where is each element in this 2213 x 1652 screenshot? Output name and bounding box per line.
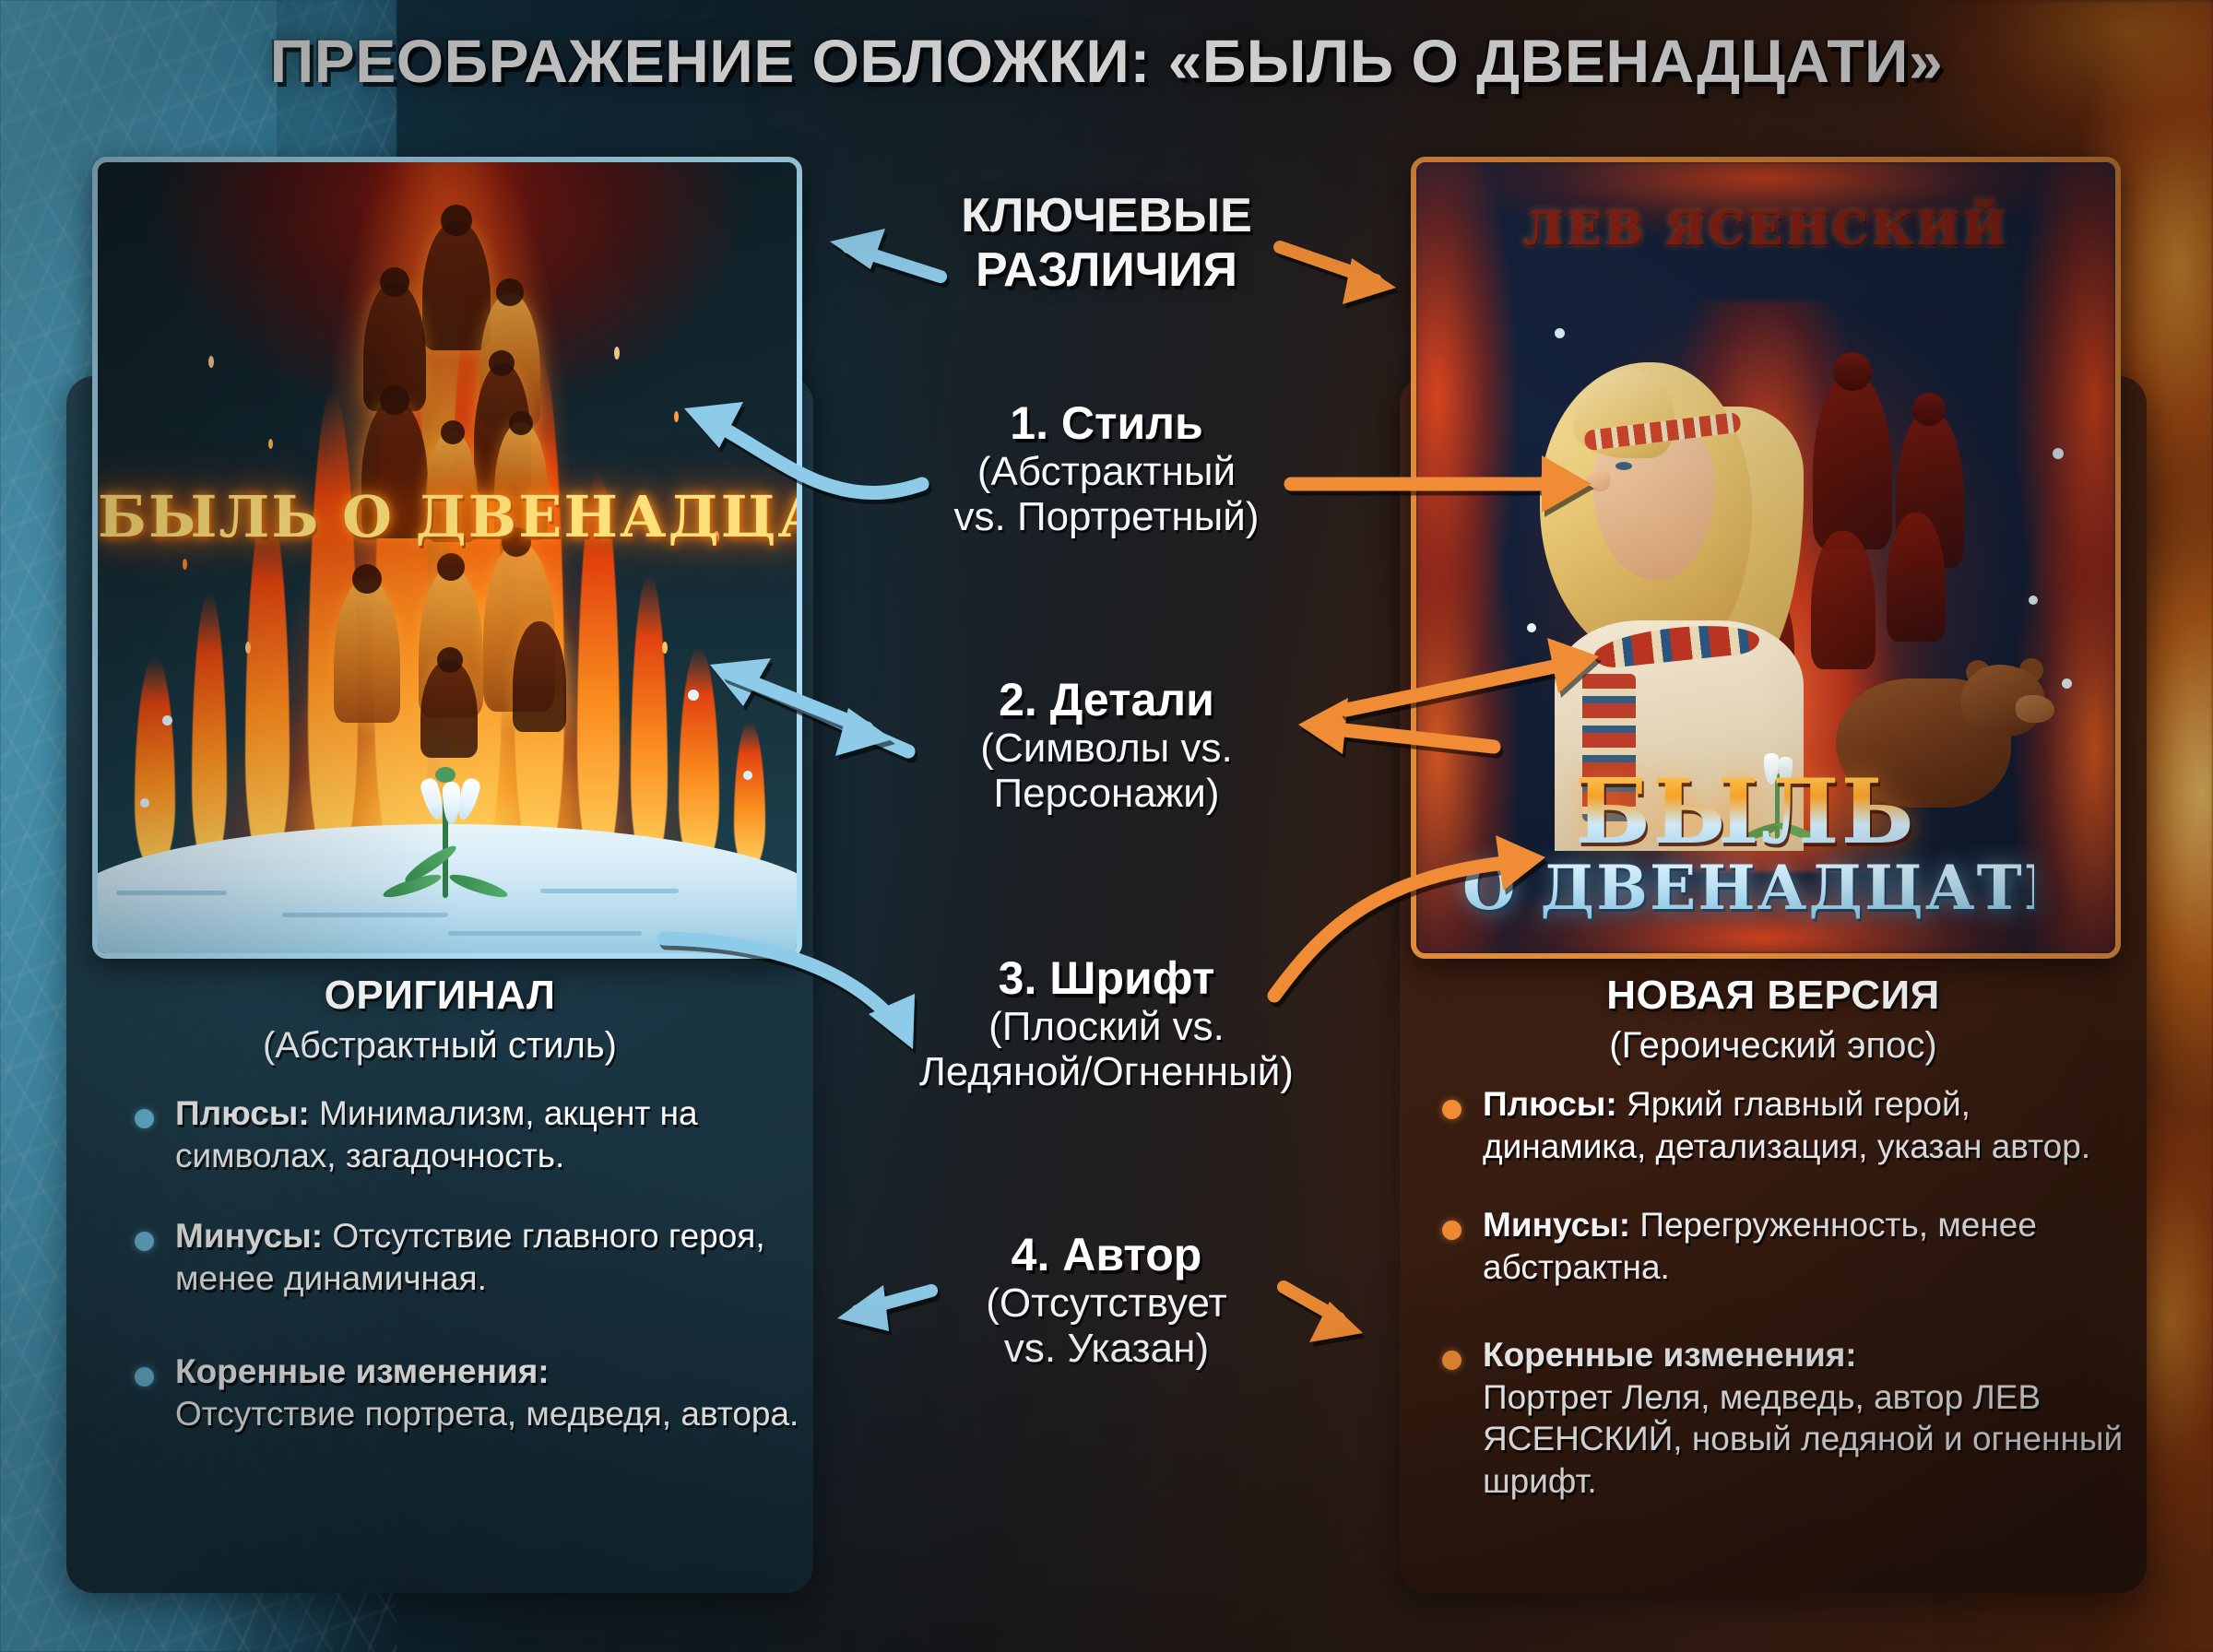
difference-1: 1. Стиль (Абстрактный vs. Портретный) xyxy=(830,398,1383,540)
difference-1-title: 1. Стиль xyxy=(830,398,1383,449)
difference-3-sub-line1: (Плоский vs. xyxy=(830,1004,1383,1049)
difference-1-sub-line1: (Абстрактный xyxy=(830,449,1383,494)
bullet-label: Плюсы: xyxy=(1483,1085,1617,1123)
spark xyxy=(183,559,187,570)
left-panel-heading: ОРИГИНАЛ xyxy=(66,973,813,1019)
snowflake xyxy=(1527,623,1536,632)
hero-head xyxy=(496,278,524,306)
spark xyxy=(674,411,679,422)
cover-title-line1: БЫЛЬ xyxy=(1483,760,2008,864)
warrior-silhouette xyxy=(1887,513,1946,642)
cover-art-new: ЛЕВ ЯСЕНСКИЙ xyxy=(1416,162,2115,953)
cover-author-name: ЛЕВ ЯСЕНСКИЙ xyxy=(1416,201,2115,255)
snowflake xyxy=(1555,328,1565,338)
hero-head xyxy=(352,564,382,594)
difference-3: 3. Шрифт (Плоский vs. Ледяной/Огненный) xyxy=(830,953,1383,1095)
right-panel-subheading: (Героический эпос) xyxy=(1400,1025,2147,1067)
list-item: Плюсы: Яркий главный герой, динамика, де… xyxy=(1483,1083,2128,1167)
bullet-text: Портрет Леля, медведь, автор ЛЕВ ЯСЕНСКИ… xyxy=(1483,1378,2123,1500)
difference-3-sub-line2: Ледяной/Огненный) xyxy=(830,1049,1383,1094)
hero-head xyxy=(441,205,472,236)
cover-art-original: БЫЛЬ О ДВЕНАДЦАТИ xyxy=(98,162,797,953)
cover-title-line2: О ДВЕНАДЦАТИ xyxy=(1462,852,2034,924)
difference-2-sub-line2: Персонажи) xyxy=(830,771,1383,816)
hero-silhouette xyxy=(422,221,491,350)
bullet-dot-icon xyxy=(135,1367,154,1386)
difference-2-title: 2. Детали xyxy=(830,675,1383,726)
list-item: Коренные изменения:Портрет Леля, медведь… xyxy=(1483,1334,2128,1502)
list-item: Минусы: Перегруженность, менее абстрактн… xyxy=(1483,1204,2128,1288)
difference-4-sub-line2: vs. Указан) xyxy=(830,1326,1383,1371)
hero-silhouette xyxy=(513,621,566,732)
key-differences-line2: РАЗЛИЧИЯ xyxy=(830,243,1383,298)
left-panel-subheading: (Абстрактный стиль) xyxy=(66,1025,813,1067)
hero-head xyxy=(509,411,533,435)
spark xyxy=(614,347,620,360)
bear-snout xyxy=(2016,695,2054,723)
bullet-dot-icon xyxy=(135,1232,154,1251)
right-panel-heading: НОВАЯ ВЕРСИЯ xyxy=(1400,973,2147,1019)
hero-head xyxy=(437,647,463,673)
book-cover-new[interactable]: ЛЕВ ЯСЕНСКИЙ xyxy=(1411,157,2121,959)
key-differences-line1: КЛЮЧЕВЫЕ xyxy=(830,189,1383,243)
list-item: Коренные изменения:Отсутствие портрета, … xyxy=(175,1351,811,1434)
spark xyxy=(268,439,273,449)
bullet-dot-icon xyxy=(1442,1351,1462,1370)
book-cover-original[interactable]: БЫЛЬ О ДВЕНАДЦАТИ xyxy=(92,157,802,959)
difference-2-sub-line1: (Символы vs. xyxy=(830,726,1383,771)
bullet-dot-icon xyxy=(135,1109,154,1128)
snowflake xyxy=(2029,596,2038,605)
snowflake xyxy=(743,771,752,780)
difference-4-title: 4. Автор xyxy=(830,1230,1383,1280)
bullet-label: Минусы: xyxy=(175,1217,323,1255)
bullet-text: Отсутствие портрета, медведя, автора. xyxy=(175,1395,799,1433)
list-item: Плюсы: Минимализм, акцент на символах, з… xyxy=(175,1092,811,1176)
infographic-root: ПРЕОБРАЖЕНИЕ ОБЛОЖКИ: «БЫЛЬ О ДВЕНАДЦАТИ… xyxy=(0,0,2213,1652)
difference-4: 4. Автор (Отсутствует vs. Указан) xyxy=(830,1230,1383,1372)
bullet-label: Коренные изменения: xyxy=(1483,1336,1857,1374)
bullet-label: Плюсы: xyxy=(175,1094,310,1132)
hero-head xyxy=(380,385,409,415)
left-bullet-list: Плюсы: Минимализм, акцент на символах, з… xyxy=(175,1092,811,1464)
list-item: Минусы: Отсутствие главного героя, менее… xyxy=(175,1215,811,1299)
hero-head xyxy=(380,267,409,297)
bullet-dot-icon xyxy=(1442,1100,1462,1119)
cover-title-original: БЫЛЬ О ДВЕНАДЦАТИ xyxy=(98,483,797,550)
hero-head xyxy=(489,350,515,376)
difference-4-sub-line1: (Отсутствует xyxy=(830,1280,1383,1326)
right-bullet-list: Плюсы: Яркий главный герой, динамика, де… xyxy=(1483,1083,2128,1531)
spark xyxy=(245,642,251,654)
difference-2: 2. Детали (Символы vs. Персонажи) xyxy=(830,675,1383,817)
snowdrop-flower xyxy=(378,750,516,898)
snowflake xyxy=(140,798,149,808)
snowflake xyxy=(2053,448,2064,459)
spark xyxy=(662,642,668,654)
page-title: ПРЕОБРАЖЕНИЕ ОБЛОЖКИ: «БЫЛЬ О ДВЕНАДЦАТИ… xyxy=(0,26,2213,96)
bullet-label: Минусы: xyxy=(1483,1206,1630,1244)
warrior-head xyxy=(1833,352,1872,391)
difference-3-title: 3. Шрифт xyxy=(830,953,1383,1004)
snowflake xyxy=(162,715,172,726)
hero-head xyxy=(441,420,465,444)
snowflake xyxy=(2062,678,2072,689)
hero-head xyxy=(437,553,465,581)
warrior-head xyxy=(1912,393,1946,426)
bullet-label: Коренные изменения: xyxy=(175,1352,550,1390)
bullet-dot-icon xyxy=(1442,1221,1462,1240)
spark xyxy=(208,356,214,368)
difference-1-sub-line2: vs. Портретный) xyxy=(830,494,1383,539)
snowflake xyxy=(688,690,699,701)
key-differences-heading: КЛЮЧЕВЫЕ РАЗЛИЧИЯ xyxy=(830,189,1383,299)
hero-silhouette xyxy=(334,579,400,723)
